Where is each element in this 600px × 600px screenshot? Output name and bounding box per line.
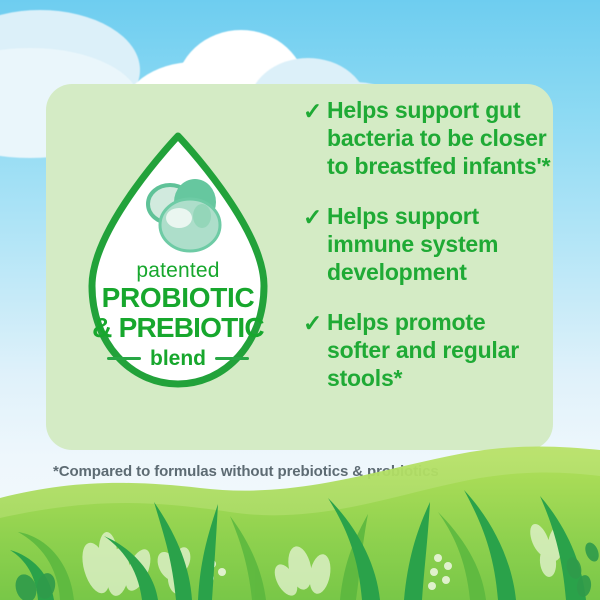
grass-illustration xyxy=(0,440,600,600)
list-item: ✓ Helps support immune system developmen… xyxy=(303,202,553,286)
benefit-list: ✓ Helps support gut bacteria to be close… xyxy=(303,96,553,414)
probiotic-prebiotic-badge: patented PROBIOTIC & PREBIOTIC blend xyxy=(78,130,278,392)
benefit-text: Helps support immune system development xyxy=(327,202,553,286)
list-item: ✓ Helps support gut bacteria to be close… xyxy=(303,96,553,180)
badge-line-patented: patented xyxy=(78,260,278,281)
check-icon: ✓ xyxy=(303,310,325,336)
blend-rule-right xyxy=(215,357,249,360)
check-icon: ✓ xyxy=(303,98,325,124)
badge-line-blend-row: blend xyxy=(78,348,278,369)
badge-line-blend: blend xyxy=(150,348,206,369)
product-benefits-graphic: patented PROBIOTIC & PREBIOTIC blend ✓ H… xyxy=(0,0,600,600)
blend-rule-left xyxy=(107,357,141,360)
benefit-text: Helps promote softer and regular stools* xyxy=(327,308,553,392)
badge-line-prebiotic: & PREBIOTIC xyxy=(78,314,278,342)
list-item: ✓ Helps promote softer and regular stool… xyxy=(303,308,553,392)
grass-foreground xyxy=(0,440,600,600)
badge-line-probiotic: PROBIOTIC xyxy=(78,284,278,312)
check-icon: ✓ xyxy=(303,204,325,230)
benefit-text: Helps support gut bacteria to be closer … xyxy=(327,96,553,180)
